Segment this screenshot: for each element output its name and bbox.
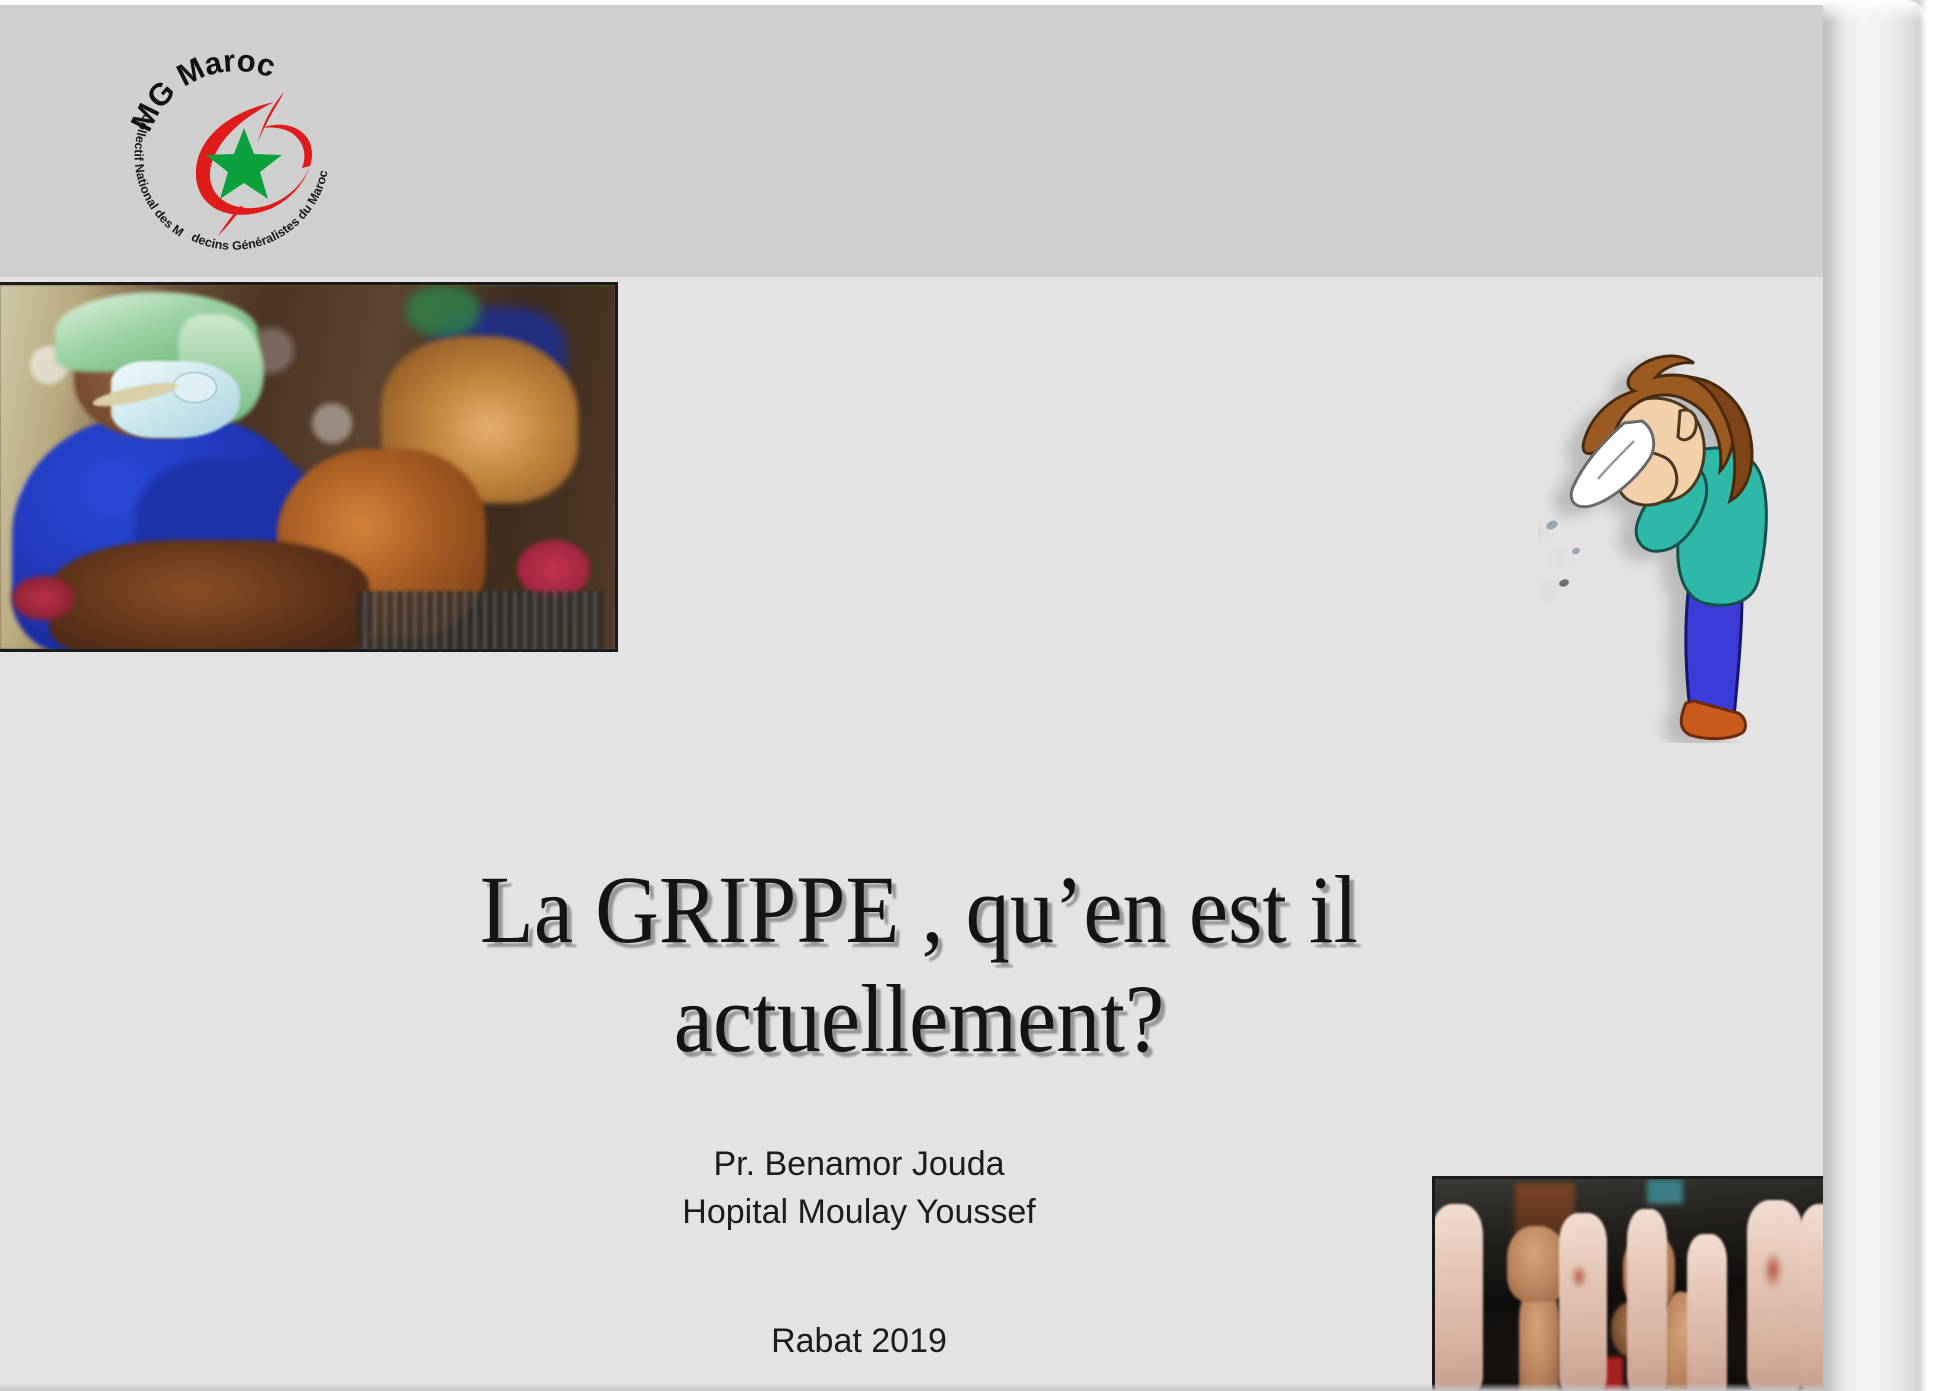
photo-detail-blood-mark <box>1571 1264 1587 1289</box>
photo-detail-comb <box>517 540 591 598</box>
presentation-slide: MG Maroc Collectif National des Mé decin… <box>0 0 1935 1391</box>
photo-detail-hand-left <box>1507 1226 1567 1302</box>
poultry-worker-photo <box>0 282 618 652</box>
cartoon-droplet <box>1558 578 1570 588</box>
page-bottom-edge <box>0 1383 1838 1391</box>
slide-venue: Rabat 2019 <box>0 1322 1718 1361</box>
cartoon-trousers <box>1686 593 1742 717</box>
photo-detail-chicken-front <box>49 540 369 652</box>
page-curl-edge <box>1823 0 1935 1391</box>
photo-detail-hanging-bird <box>1747 1200 1803 1391</box>
page-curl-highlight <box>1823 0 1927 22</box>
cartoon-droplet <box>1571 547 1581 556</box>
photo-detail-blood-mark <box>1763 1251 1783 1289</box>
slide-byline: Pr. Benamor Jouda Hopital Moulay Youssef <box>0 1140 1718 1237</box>
sneezing-person-cartoon <box>1538 345 1786 743</box>
slide-title: La GRIPPE , qu’en est il actuellement? <box>74 855 1765 1074</box>
photo-detail-comb-2 <box>12 576 74 620</box>
photo-detail-hanging-bird <box>1687 1234 1727 1391</box>
cartoon-droplet <box>1545 519 1559 531</box>
photo-detail-green-backdrop <box>406 285 480 336</box>
photo-detail-cage <box>357 591 603 652</box>
mg-maroc-logo: MG Maroc Collectif National des Mé decin… <box>124 30 346 252</box>
photo-detail-hanging-bird <box>1559 1213 1607 1391</box>
cartoon-ear <box>1678 410 1696 440</box>
